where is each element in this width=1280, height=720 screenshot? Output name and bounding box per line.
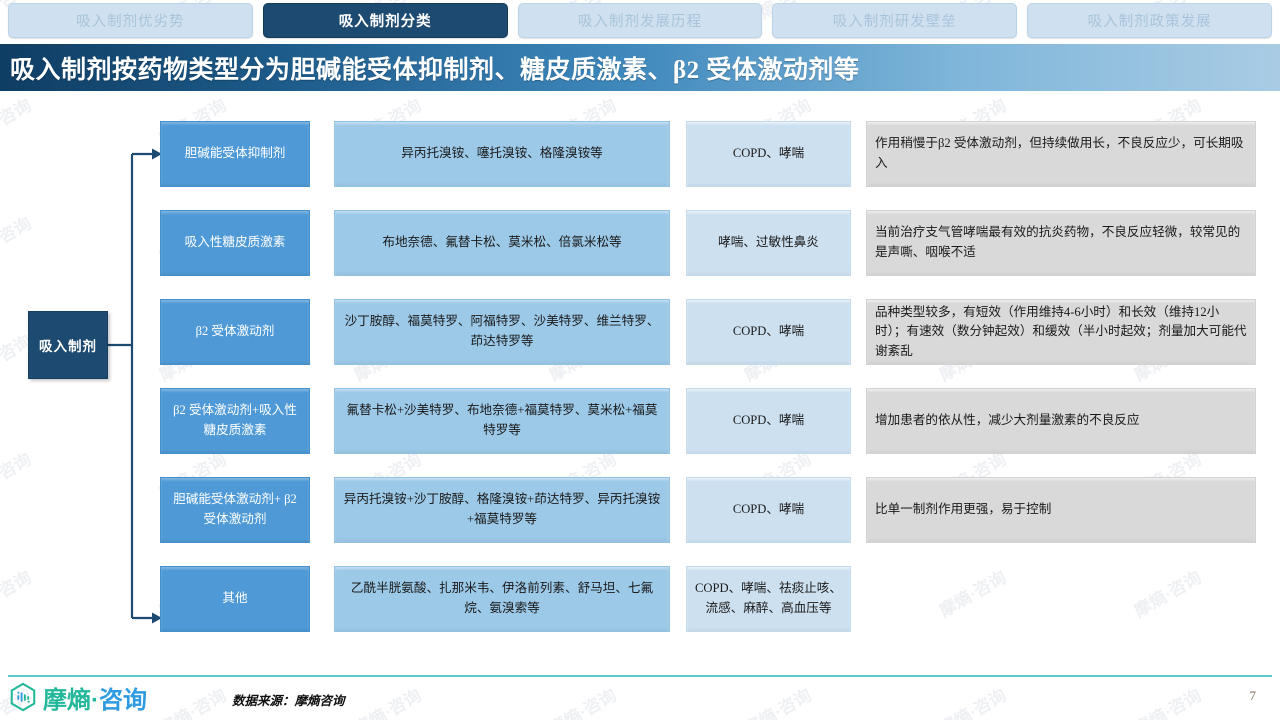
diagram-row: β2 受体激动剂+吸入性糖皮质激素氟替卡松+沙美特罗、布地奈德+福莫特罗、莫米松… <box>0 388 1280 454</box>
diagram-row: 胆碱能受体激动剂+ β2 受体激动剂异丙托溴铵+沙丁胺醇、格隆溴铵+茚达特罗、异… <box>0 477 1280 543</box>
drug-list-box-text: 异丙托溴铵、噻托溴铵、格隆溴铵等 <box>401 144 603 164</box>
indication-box: COPD、哮喘 <box>686 388 851 454</box>
drug-list-box: 沙丁胺醇、福莫特罗、阿福特罗、沙美特罗、维兰特罗、茚达特罗等 <box>334 299 670 365</box>
drug-list-box: 氟替卡松+沙美特罗、布地奈德+福莫特罗、莫米松+福莫特罗等 <box>334 388 670 454</box>
note-box: 作用稍慢于β2 受体激动剂，但持续做用长，不良反应少，可长期吸入 <box>866 121 1256 187</box>
category-box: β2 受体激动剂 <box>160 299 310 365</box>
tab-1-active[interactable]: 吸入制剂分类 <box>263 3 508 38</box>
drug-list-box-text: 乙酰半胱氨酸、扎那米韦、伊洛前列素、舒马坦、七氟烷、氨溴索等 <box>343 579 661 618</box>
data-source-label: 数据来源：摩熵咨询 <box>232 690 345 709</box>
indication-box-text: 哮喘、过敏性鼻炎 <box>718 233 819 253</box>
root-node: 吸入制剂 <box>28 311 108 379</box>
category-box: 胆碱能受体抑制剂 <box>160 121 310 187</box>
brand-name-secondary: 咨询 <box>99 687 147 714</box>
category-box: 其他 <box>160 566 310 632</box>
brand-logo: 摩熵·咨询 <box>8 680 147 714</box>
drug-list-box-text: 沙丁胺醇、福莫特罗、阿福特罗、沙美特罗、维兰特罗、茚达特罗等 <box>343 312 661 351</box>
watermark: 摩熵·咨询 <box>349 681 425 720</box>
category-box: 吸入性糖皮质激素 <box>160 210 310 276</box>
tab-bar: 吸入制剂优劣势吸入制剂分类吸入制剂发展历程吸入制剂研发壁垒吸入制剂政策发展 <box>0 0 1280 40</box>
drug-list-box: 布地奈德、氟替卡松、莫米松、倍氯米松等 <box>334 210 670 276</box>
indication-box: 哮喘、过敏性鼻炎 <box>686 210 851 276</box>
classification-diagram: 吸入制剂 胆碱能受体抑制剂异丙托溴铵、噻托溴铵、格隆溴铵等COPD、哮喘作用稍慢… <box>0 91 1280 666</box>
diagram-row: 胆碱能受体抑制剂异丙托溴铵、噻托溴铵、格隆溴铵等COPD、哮喘作用稍慢于β2 受… <box>0 121 1280 187</box>
indication-box: COPD、哮喘 <box>686 121 851 187</box>
tab-3[interactable]: 吸入制剂研发壁垒 <box>772 3 1017 38</box>
indication-box-text: COPD、哮喘 <box>733 144 804 164</box>
page-number: 7 <box>1250 688 1257 704</box>
slide-title-band: 吸入制剂按药物类型分为胆碱能受体抑制剂、糖皮质激素、β2 受体激动剂等 <box>0 44 1280 91</box>
category-box: 胆碱能受体激动剂+ β2 受体激动剂 <box>160 477 310 543</box>
brand-name-separator: · <box>91 687 99 714</box>
category-box-text: 其他 <box>222 589 247 609</box>
category-box-text: β2 受体激动剂+吸入性糖皮质激素 <box>169 401 301 440</box>
tab-4[interactable]: 吸入制剂政策发展 <box>1027 3 1272 38</box>
indication-box-text: COPD、哮喘、祛痰止咳、流感、麻醉、高血压等 <box>695 579 842 618</box>
note-box-text: 比单一制剂作用更强，易于控制 <box>875 500 1051 520</box>
page-title: 吸入制剂按药物类型分为胆碱能受体抑制剂、糖皮质激素、β2 受体激动剂等 <box>0 50 859 86</box>
indication-box-text: COPD、哮喘 <box>733 322 804 342</box>
note-box-text: 增加患者的依从性，减少大剂量激素的不良反应 <box>875 411 1139 431</box>
category-box-text: 吸入性糖皮质激素 <box>185 233 286 253</box>
note-box: 比单一制剂作用更强，易于控制 <box>866 477 1256 543</box>
indication-box: COPD、哮喘 <box>686 299 851 365</box>
note-box: 当前治疗支气管哮喘最有效的抗炎药物，不良反应轻微，较常见的是声嘶、咽喉不适 <box>866 210 1256 276</box>
watermark: 摩熵·咨询 <box>154 681 230 720</box>
diagram-row: β2 受体激动剂沙丁胺醇、福莫特罗、阿福特罗、沙美特罗、维兰特罗、茚达特罗等CO… <box>0 299 1280 365</box>
indication-box: COPD、哮喘 <box>686 477 851 543</box>
drug-list-box-text: 异丙托溴铵+沙丁胺醇、格隆溴铵+茚达特罗、异丙托溴铵+福莫特罗等 <box>343 490 661 529</box>
note-box: 增加患者的依从性，减少大剂量激素的不良反应 <box>866 388 1256 454</box>
category-box: β2 受体激动剂+吸入性糖皮质激素 <box>160 388 310 454</box>
drug-list-box: 异丙托溴铵+沙丁胺醇、格隆溴铵+茚达特罗、异丙托溴铵+福莫特罗等 <box>334 477 670 543</box>
indication-box-text: COPD、哮喘 <box>733 500 804 520</box>
watermark: 摩熵·咨询 <box>1129 681 1205 720</box>
note-box-text: 当前治疗支气管哮喘最有效的抗炎药物，不良反应轻微，较常见的是声嘶、咽喉不适 <box>875 223 1247 262</box>
category-box-text: 胆碱能受体抑制剂 <box>185 144 286 164</box>
tab-label: 吸入制剂研发壁垒 <box>833 10 957 31</box>
tab-0[interactable]: 吸入制剂优劣势 <box>8 3 253 38</box>
brand-logo-text: 摩熵·咨询 <box>43 680 147 715</box>
tab-label: 吸入制剂政策发展 <box>1088 10 1212 31</box>
tab-label: 吸入制剂分类 <box>339 10 432 31</box>
drug-list-box-text: 氟替卡松+沙美特罗、布地奈德+福莫特罗、莫米松+福莫特罗等 <box>343 401 661 440</box>
note-box-text: 品种类型较多，有短效（作用维持4-6小时）和长效（维持12小时）；有速效（数分钟… <box>875 303 1247 362</box>
tab-label: 吸入制剂发展历程 <box>578 10 702 31</box>
watermark: 摩熵·咨询 <box>739 681 815 720</box>
brand-name-primary: 摩熵 <box>43 687 91 714</box>
note-box-text: 作用稍慢于β2 受体激动剂，但持续做用长，不良反应少，可长期吸入 <box>875 134 1247 173</box>
drug-list-box-text: 布地奈德、氟替卡松、莫米松、倍氯米松等 <box>382 233 621 253</box>
diagram-row: 吸入性糖皮质激素布地奈德、氟替卡松、莫米松、倍氯米松等哮喘、过敏性鼻炎当前治疗支… <box>0 210 1280 276</box>
hexagon-logo-icon <box>8 682 38 712</box>
footer-divider <box>8 675 1272 677</box>
drug-list-box: 异丙托溴铵、噻托溴铵、格隆溴铵等 <box>334 121 670 187</box>
category-box-text: 胆碱能受体激动剂+ β2 受体激动剂 <box>169 490 301 529</box>
indication-box: COPD、哮喘、祛痰止咳、流感、麻醉、高血压等 <box>686 566 851 632</box>
drug-list-box: 乙酰半胱氨酸、扎那米韦、伊洛前列素、舒马坦、七氟烷、氨溴索等 <box>334 566 670 632</box>
slide-page: 摩熵·咨询摩熵·咨询摩熵·咨询摩熵·咨询摩熵·咨询摩熵·咨询摩熵·咨询摩熵·咨询… <box>0 0 1280 720</box>
watermark: 摩熵·咨询 <box>544 681 620 720</box>
tab-label: 吸入制剂优劣势 <box>76 10 185 31</box>
watermark: 摩熵·咨询 <box>934 681 1010 720</box>
tab-2[interactable]: 吸入制剂发展历程 <box>518 3 763 38</box>
note-box: 品种类型较多，有短效（作用维持4-6小时）和长效（维持12小时）；有速效（数分钟… <box>866 299 1256 365</box>
indication-box-text: COPD、哮喘 <box>733 411 804 431</box>
category-box-text: β2 受体激动剂 <box>196 322 275 342</box>
